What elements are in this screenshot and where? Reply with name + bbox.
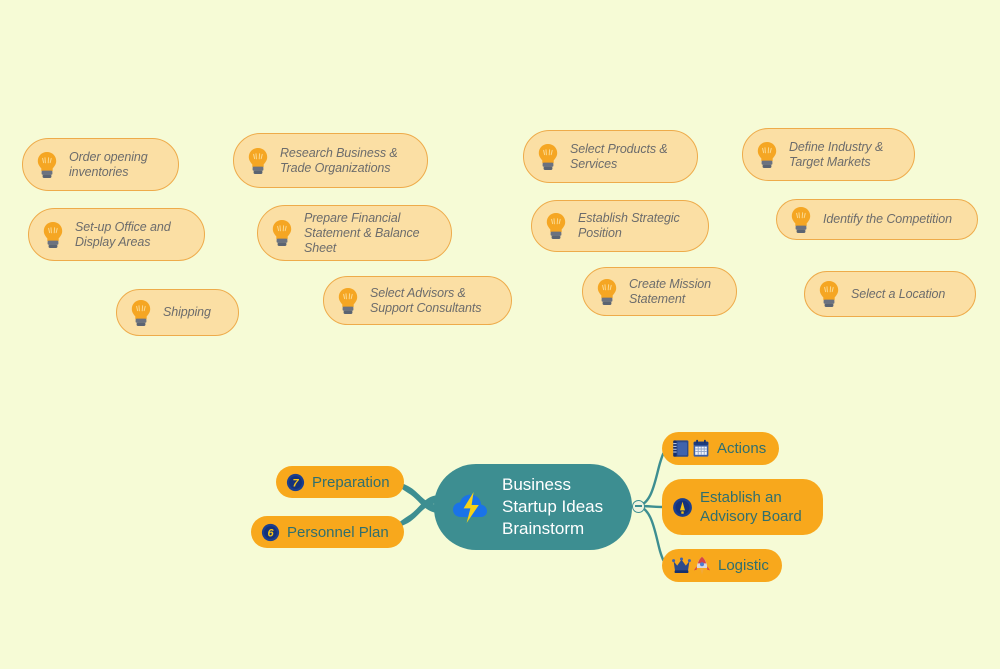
- lightbulb-icon: [789, 205, 813, 235]
- idea-card-label: Select Advisors & Support Consultants: [370, 286, 481, 316]
- central-topic-node[interactable]: Business Startup Ideas Brainstorm: [434, 464, 632, 550]
- idea-card[interactable]: Set-up Office and Display Areas: [28, 208, 205, 261]
- lightbulb-icon: [129, 298, 153, 328]
- lightbulb-icon: [817, 279, 841, 309]
- lightbulb-icon: [246, 146, 270, 176]
- branch-icon-group: 7: [286, 473, 305, 492]
- idea-card-label: Prepare Financial Statement & Balance Sh…: [304, 211, 420, 256]
- idea-card[interactable]: Select Products & Services: [523, 130, 698, 183]
- rocket-icon: [693, 556, 711, 576]
- lightbulb-icon: [755, 140, 779, 170]
- idea-card-label: Create Mission Statement: [629, 277, 711, 307]
- idea-card-label: Define Industry & Target Markets: [789, 140, 883, 170]
- idea-card-label: Research Business & Trade Organizations: [280, 146, 398, 176]
- idea-card[interactable]: Shipping: [116, 289, 239, 336]
- notebook-icon: [672, 439, 690, 458]
- svg-text:7: 7: [292, 477, 299, 489]
- idea-card[interactable]: Identify the Competition: [776, 199, 978, 240]
- lightbulb-icon: [35, 150, 59, 180]
- idea-card[interactable]: Select a Location: [804, 271, 976, 317]
- idea-card-label: Establish Strategic Position: [578, 211, 680, 241]
- lightbulb-icon: [41, 220, 65, 250]
- central-topic-title: Business Startup Ideas Brainstorm: [502, 474, 603, 540]
- lightbulb-icon: [536, 142, 560, 172]
- idea-card[interactable]: Define Industry & Target Markets: [742, 128, 915, 181]
- branch-icon-group: [672, 556, 711, 576]
- branch-node-label: Actions: [717, 439, 766, 458]
- branch-node-logistic[interactable]: Logistic: [662, 549, 782, 582]
- branch-node-label: Logistic: [718, 556, 769, 575]
- idea-card[interactable]: Select Advisors & Support Consultants: [323, 276, 512, 325]
- number-6-badge-icon: 6: [261, 523, 280, 542]
- idea-card[interactable]: Research Business & Trade Organizations: [233, 133, 428, 188]
- branch-icon-group: [672, 497, 693, 518]
- idea-card-label: Select a Location: [851, 287, 945, 302]
- idea-card-label: Set-up Office and Display Areas: [75, 220, 171, 250]
- branch-node-actions[interactable]: Actions: [662, 432, 779, 465]
- idea-card-label: Order opening inventories: [69, 150, 148, 180]
- mindmap-canvas: Order opening inventoriesResearch Busine…: [0, 0, 1000, 669]
- branch-node-label: Preparation: [312, 473, 390, 492]
- idea-card[interactable]: Prepare Financial Statement & Balance Sh…: [257, 205, 452, 261]
- collapse-toggle[interactable]: [632, 500, 645, 513]
- lightbulb-icon: [336, 286, 360, 316]
- branch-node-establish-an-advisory-board[interactable]: Establish an Advisory Board: [662, 479, 823, 535]
- cloud-lightning-icon: [450, 487, 490, 527]
- branch-node-preparation[interactable]: 7Preparation: [276, 466, 404, 498]
- crown-icon: [672, 557, 691, 574]
- branch-node-label: Personnel Plan: [287, 523, 389, 542]
- idea-card[interactable]: Order opening inventories: [22, 138, 179, 191]
- calendar-icon: [692, 439, 710, 458]
- idea-card-label: Identify the Competition: [823, 212, 952, 227]
- idea-card-label: Shipping: [163, 305, 211, 320]
- lightbulb-icon: [544, 211, 568, 241]
- alert-badge-icon: [672, 497, 693, 518]
- number-7-badge-icon: 7: [286, 473, 305, 492]
- branch-node-label: Establish an Advisory Board: [700, 488, 802, 526]
- branch-icon-group: [672, 439, 710, 458]
- branch-icon-group: 6: [261, 523, 280, 542]
- idea-card[interactable]: Establish Strategic Position: [531, 200, 709, 252]
- svg-text:6: 6: [267, 527, 274, 539]
- idea-card[interactable]: Create Mission Statement: [582, 267, 737, 316]
- idea-card-label: Select Products & Services: [570, 142, 668, 172]
- branch-node-personnel-plan[interactable]: 6Personnel Plan: [251, 516, 404, 548]
- lightbulb-icon: [270, 218, 294, 248]
- lightbulb-icon: [595, 277, 619, 307]
